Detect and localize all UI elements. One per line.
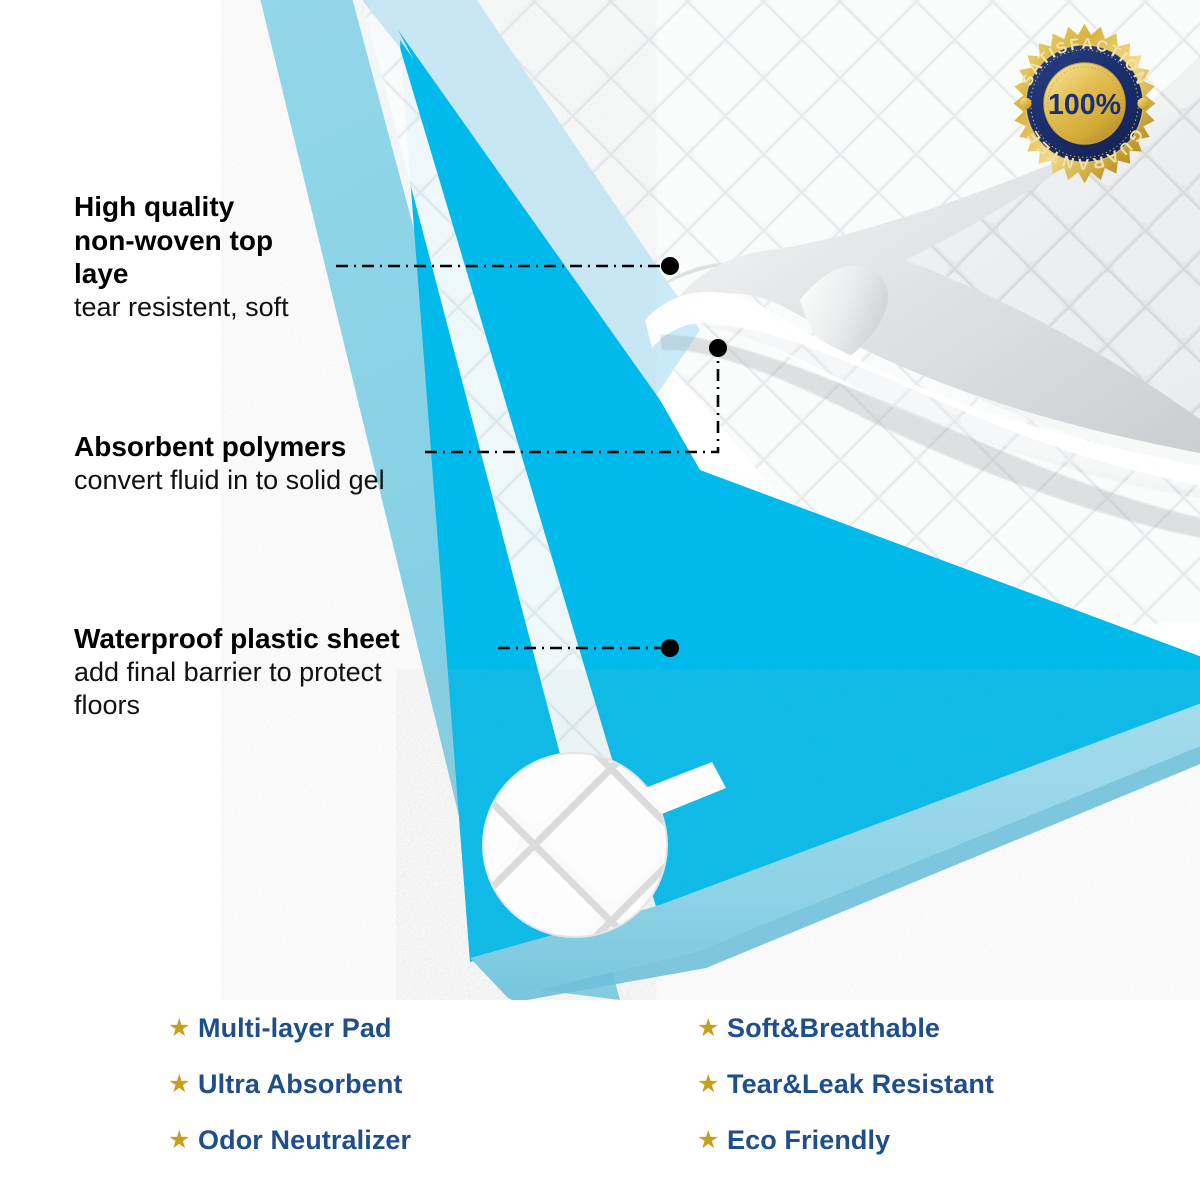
quilt-texture-magnifier <box>483 753 667 937</box>
star-icon: ★ <box>168 1072 198 1097</box>
star-icon: ★ <box>697 1128 727 1153</box>
callout-waterproof-sheet-subtitle: add final barrier to protect floors <box>74 656 514 722</box>
satisfaction-guarantee-badge: SATISFACTION GUARANTEE 100% <box>1003 22 1166 185</box>
callout-top-layer-subtitle: tear resistent, soft <box>74 291 404 324</box>
feature-label: Soft&Breathable <box>727 1013 940 1044</box>
badge-left-nub <box>1020 98 1031 109</box>
feature-column-left: ★ Multi-layer Pad ★ Ultra Absorbent ★ Od… <box>168 1000 411 1168</box>
star-icon: ★ <box>168 1016 198 1041</box>
badge-right-nub <box>1137 98 1148 109</box>
feature-item-odor-neutralizer: ★ Odor Neutralizer <box>168 1112 411 1168</box>
feature-label: Odor Neutralizer <box>198 1125 411 1156</box>
feature-item-multi-layer-pad: ★ Multi-layer Pad <box>168 1000 411 1056</box>
callout-absorbent-polymers: Absorbent polymers convert fluid in to s… <box>74 430 504 497</box>
callout-waterproof-sheet-title: Waterproof plastic sheet <box>74 622 514 656</box>
callout-absorbent-polymers-title: Absorbent polymers <box>74 430 504 464</box>
callout-absorbent-polymers-subtitle: convert fluid in to solid gel <box>74 464 504 497</box>
feature-list: ★ Multi-layer Pad ★ Ultra Absorbent ★ Od… <box>0 1000 1200 1200</box>
callout-waterproof-sheet: Waterproof plastic sheet add final barri… <box>74 622 514 721</box>
feature-item-soft-breathable: ★ Soft&Breathable <box>697 1000 994 1056</box>
feature-item-eco-friendly: ★ Eco Friendly <box>697 1112 994 1168</box>
callout-top-layer: High quality non-woven top laye tear res… <box>74 190 404 324</box>
callout-top-layer-title: High quality non-woven top laye <box>74 190 404 291</box>
star-icon: ★ <box>168 1128 198 1153</box>
feature-label: Ultra Absorbent <box>198 1069 403 1100</box>
feature-item-ultra-absorbent: ★ Ultra Absorbent <box>168 1056 411 1112</box>
infographic-canvas: High quality non-woven top laye tear res… <box>0 0 1200 1200</box>
feature-label: Multi-layer Pad <box>198 1013 392 1044</box>
feature-column-right: ★ Soft&Breathable ★ Tear&Leak Resistant … <box>697 1000 994 1168</box>
feature-label: Tear&Leak Resistant <box>727 1069 994 1100</box>
feature-label: Eco Friendly <box>727 1125 890 1156</box>
feature-item-tear-leak-resistant: ★ Tear&Leak Resistant <box>697 1056 994 1112</box>
star-icon: ★ <box>697 1072 727 1097</box>
badge-center-text: 100% <box>1048 89 1121 121</box>
star-icon: ★ <box>697 1016 727 1041</box>
